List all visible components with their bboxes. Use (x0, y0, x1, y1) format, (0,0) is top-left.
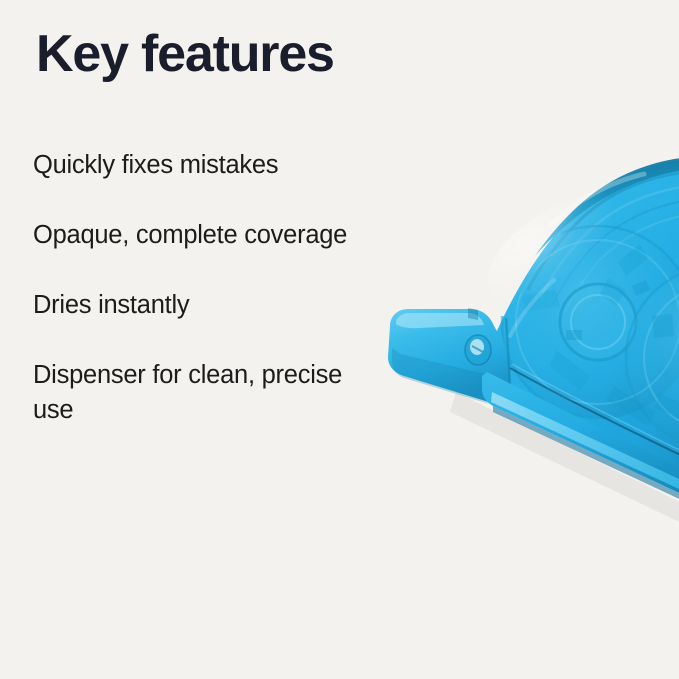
feature-text-column: Key features Quickly fixes mistakes Opaq… (0, 0, 400, 679)
product-feature-card: Key features Quickly fixes mistakes Opaq… (0, 0, 679, 679)
list-item: Quickly fixes mistakes (33, 148, 363, 183)
tip-notch (468, 308, 478, 320)
product-image (360, 140, 679, 540)
screw-detail (465, 335, 491, 365)
list-item: Dries instantly (33, 288, 363, 323)
page-title: Key features (36, 24, 334, 84)
list-item: Opaque, complete coverage (33, 218, 363, 253)
correction-tape-dispenser-illustration (360, 140, 679, 540)
list-item: Dispenser for clean, precise use (33, 358, 363, 428)
key-features-list: Quickly fixes mistakes Opaque, complete … (33, 148, 363, 428)
